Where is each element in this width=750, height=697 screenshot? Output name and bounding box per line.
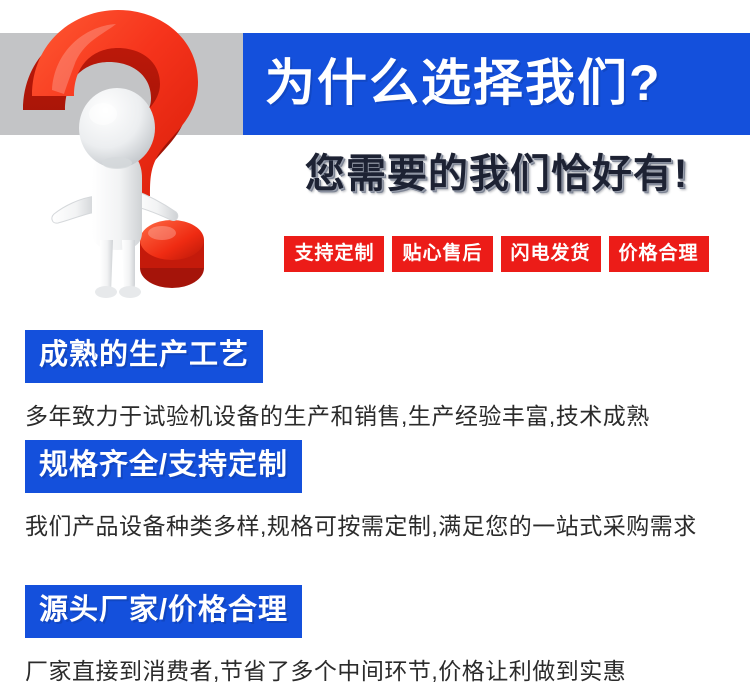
feature-heading: 成熟的生产工艺	[25, 330, 263, 383]
feature-heading: 规格齐全/支持定制	[25, 440, 302, 493]
feature-description: 厂家直接到消费者,节省了多个中间环节,价格让利做到实惠	[25, 654, 725, 690]
feature-item: 成熟的生产工艺 多年致力于试验机设备的生产和销售,生产经验丰富,技术成熟	[25, 330, 725, 435]
hero-section: 为什么选择我们? 您需要的我们恰好有! 支持定制 贴心售后 闪电发货 价格合理	[0, 0, 750, 300]
page-title: 为什么选择我们?	[265, 58, 662, 108]
feature-tag: 支持定制	[284, 236, 384, 272]
feature-heading: 源头厂家/价格合理	[25, 585, 302, 638]
title-plate: 为什么选择我们?	[243, 33, 750, 135]
feature-description: 多年致力于试验机设备的生产和销售,生产经验丰富,技术成熟	[25, 399, 725, 435]
feature-item: 源头厂家/价格合理 厂家直接到消费者,节省了多个中间环节,价格让利做到实惠	[25, 585, 725, 690]
promo-banner: 为什么选择我们? 您需要的我们恰好有! 支持定制 贴心售后 闪电发货 价格合理	[0, 0, 750, 697]
feature-tag: 贴心售后	[392, 236, 492, 272]
feature-tag: 价格合理	[609, 236, 709, 272]
question-mark-3d-character-icon	[0, 0, 250, 300]
feature-tag: 闪电发货	[501, 236, 601, 272]
feature-tag-row: 支持定制 贴心售后 闪电发货 价格合理	[243, 236, 750, 272]
feature-list: 成熟的生产工艺 多年致力于试验机设备的生产和销售,生产经验丰富,技术成熟 规格齐…	[0, 300, 750, 697]
hero-subtitle: 您需要的我们恰好有!	[243, 152, 750, 196]
feature-description: 我们产品设备种类多样,规格可按需定制,满足您的一站式采购需求	[25, 509, 725, 545]
feature-item: 规格齐全/支持定制 我们产品设备种类多样,规格可按需定制,满足您的一站式采购需求	[25, 440, 725, 545]
